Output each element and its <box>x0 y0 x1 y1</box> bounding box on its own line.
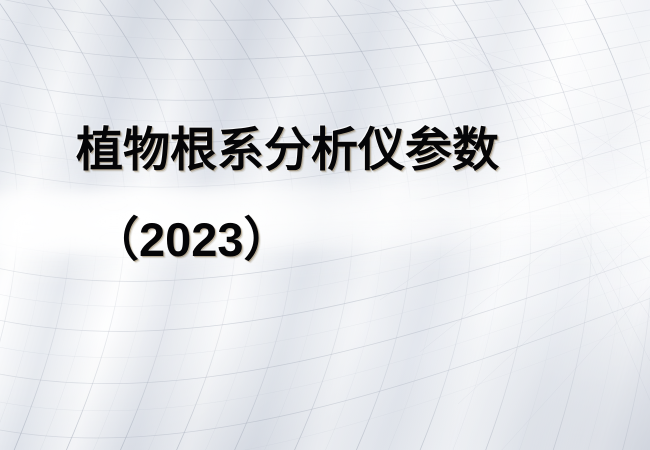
title-slide: 植物根系分析仪参数 （2023） <box>0 0 650 450</box>
